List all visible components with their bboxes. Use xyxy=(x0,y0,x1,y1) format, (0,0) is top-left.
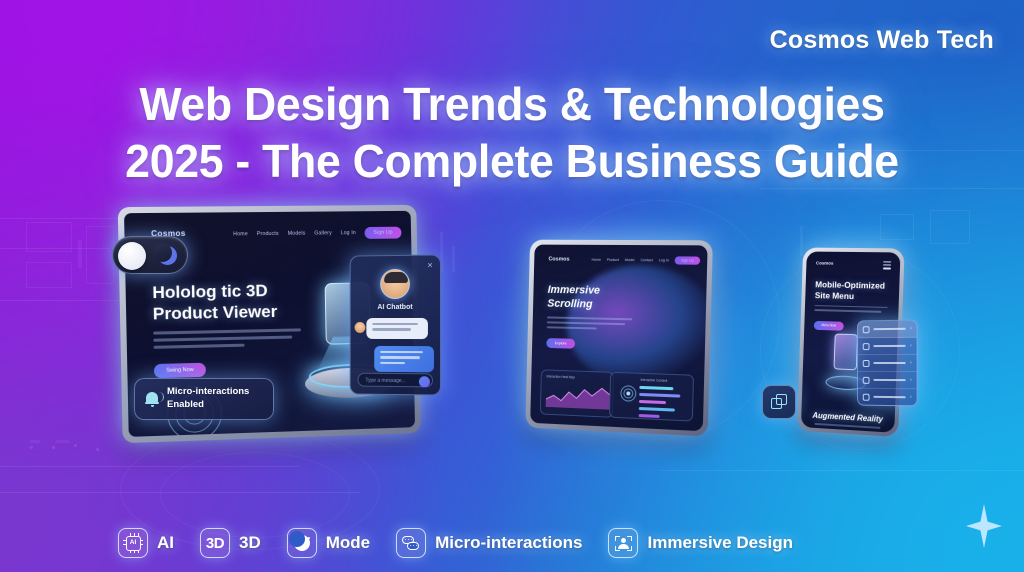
immersive-frame-icon xyxy=(608,528,638,558)
mobile-menu-item-2[interactable]: › xyxy=(858,355,917,372)
tablet-nav-item-2[interactable]: Model xyxy=(625,258,635,262)
tablet-heading-line-1: Immersive xyxy=(548,284,638,299)
micro-badge-line-1: Micro-interactions xyxy=(167,386,249,399)
desktop-signup-button[interactable]: Sign Up xyxy=(365,227,402,239)
touch-hand-icon xyxy=(618,385,640,414)
headline-line-1: Web Design Trends & Technologies xyxy=(15,76,1008,133)
home-icon xyxy=(863,326,870,333)
navigation-icon xyxy=(863,343,870,350)
mobile-menu-item-0[interactable]: › xyxy=(858,321,917,339)
avatar xyxy=(380,269,410,299)
micro-badge-text: Micro-interactions Enabled xyxy=(167,386,249,411)
desktop-nav: Home Products Models Gallery Log In Sign… xyxy=(233,227,401,241)
feature-mode-label: Mode xyxy=(326,533,370,553)
close-icon[interactable]: ✕ xyxy=(427,262,433,270)
feature-bar: AI AI 3D 3D xyxy=(0,528,1024,558)
ai-chip-icon: AI xyxy=(118,528,148,558)
micro-interactions-badge: Micro-interactions Enabled xyxy=(134,378,274,420)
tablet-nav-item-1[interactable]: Product xyxy=(607,258,619,262)
chat-bubble-outgoing xyxy=(374,346,434,373)
phone-footer-line xyxy=(814,423,880,429)
sparkle-icon xyxy=(966,504,1002,548)
feature-micro-interactions[interactable]: Micro-interactions xyxy=(396,528,582,558)
feature-immersive-label: Immersive Design xyxy=(647,533,793,553)
feature-3d-label: 3D xyxy=(239,533,261,553)
desktop-nav-item-3[interactable]: Gallery xyxy=(314,230,332,236)
feature-ai[interactable]: AI AI xyxy=(118,528,174,558)
toggle-knob[interactable] xyxy=(118,242,146,270)
tablet-hero: Immersive Scrolling Explore xyxy=(546,284,637,352)
tablet-logo: Cosmos xyxy=(548,256,569,262)
desktop-cta-button[interactable]: Swing Now xyxy=(154,363,206,379)
tablet-bezel: Cosmos Home Product Model Contact Log In… xyxy=(525,240,713,437)
ai-chatbot-panel: ✕ AI Chatbot Type a message... xyxy=(350,254,441,395)
tablet-screen: Cosmos Home Product Model Contact Log In… xyxy=(530,245,707,432)
tablet-signup-button[interactable]: Sign Up xyxy=(675,256,700,264)
page-title: Web Design Trends & Technologies 2025 - … xyxy=(0,76,1024,189)
menu-icon xyxy=(863,360,870,367)
micro-badge-line-2: Enabled xyxy=(167,399,249,412)
mobile-menu-item-1[interactable]: › xyxy=(858,338,917,355)
feature-mode[interactable]: Mode xyxy=(287,528,370,558)
desktop-nav-item-0[interactable]: Home xyxy=(233,231,248,237)
three-d-glyph: 3D xyxy=(206,535,224,552)
chat-bubbles-icon xyxy=(396,528,426,558)
tablet-nav-item-4[interactable]: Log In xyxy=(659,258,669,262)
desktop-heading-line-2: Product Viewer xyxy=(153,300,304,324)
moon-icon xyxy=(287,528,317,558)
phone-logo: Cosmos xyxy=(816,261,834,266)
tablet-nav-item-3[interactable]: Contact xyxy=(640,258,652,262)
chat-input-placeholder: Type a message... xyxy=(365,377,405,383)
bell-icon xyxy=(145,391,159,407)
desktop-hero: Hololog tic 3D Product Viewer Swing Now xyxy=(152,279,305,378)
dark-mode-toggle[interactable] xyxy=(112,236,188,274)
desktop-body-lines xyxy=(153,328,304,349)
feature-micro-label: Micro-interactions xyxy=(435,533,582,553)
headline-line-2: 2025 - The Complete Business Guide xyxy=(15,133,1008,190)
avatar-small xyxy=(355,322,366,333)
desktop-nav-item-2[interactable]: Models xyxy=(288,231,306,237)
tablet-panel2-caption: Interactive Content xyxy=(641,378,668,383)
desktop-nav-item-1[interactable]: Products xyxy=(257,231,279,237)
tablet-nav: Home Product Model Contact Log In Sign U… xyxy=(592,256,701,265)
tablet-nav-item-0[interactable]: Home xyxy=(592,258,601,262)
tablet-body-lines xyxy=(547,316,636,331)
ar-cube-icon xyxy=(771,394,788,411)
mobile-menu-item-4[interactable]: › xyxy=(858,389,917,406)
contact-icon xyxy=(863,376,870,383)
chatbot-title: AI Chatbot xyxy=(351,304,440,311)
three-d-icon: 3D xyxy=(200,528,230,558)
feature-immersive-design[interactable]: Immersive Design xyxy=(608,528,793,558)
hamburger-icon[interactable] xyxy=(883,261,891,271)
moon-icon xyxy=(158,246,177,265)
search-icon xyxy=(863,393,870,400)
tablet-panel1-caption: Interaction Heat Map xyxy=(546,374,574,379)
ar-cube-badge xyxy=(762,385,796,419)
chat-input[interactable]: Type a message... xyxy=(358,373,433,388)
tablet-mockup: Cosmos Home Product Model Contact Log In… xyxy=(525,240,713,437)
feature-ai-label: AI xyxy=(157,533,174,553)
ai-chip-glyph: AI xyxy=(127,539,140,546)
mobile-menu-overlay: › › › › › xyxy=(857,320,918,407)
poster-canvas: Cosmos Web Tech Web Design Trends & Tech… xyxy=(0,0,1024,572)
tablet-interactive-panel: Interactive Content xyxy=(609,372,694,422)
phone-body-lines xyxy=(814,305,892,313)
tablet-heading-line-2: Scrolling xyxy=(547,298,637,313)
tablet-chart-panel: Interaction Heat Map xyxy=(540,369,614,418)
mobile-menu-item-3[interactable]: › xyxy=(858,372,917,389)
phone-cta-button[interactable]: Menu Now xyxy=(814,321,844,331)
tablet-cta-button[interactable]: Explore xyxy=(546,338,575,349)
brand-title: Cosmos Web Tech xyxy=(770,26,994,55)
desktop-nav-item-4[interactable]: Log In xyxy=(341,230,356,236)
area-chart-icon xyxy=(546,383,610,409)
bar-chart-icon xyxy=(639,386,688,423)
chat-bubble-incoming xyxy=(366,318,428,339)
phone-heading-line-2: Site Menu xyxy=(815,290,893,303)
desktop-heading-line-1: Hololog tic 3D xyxy=(152,279,303,303)
send-icon[interactable] xyxy=(419,376,430,387)
feature-3d[interactable]: 3D 3D xyxy=(200,528,261,558)
